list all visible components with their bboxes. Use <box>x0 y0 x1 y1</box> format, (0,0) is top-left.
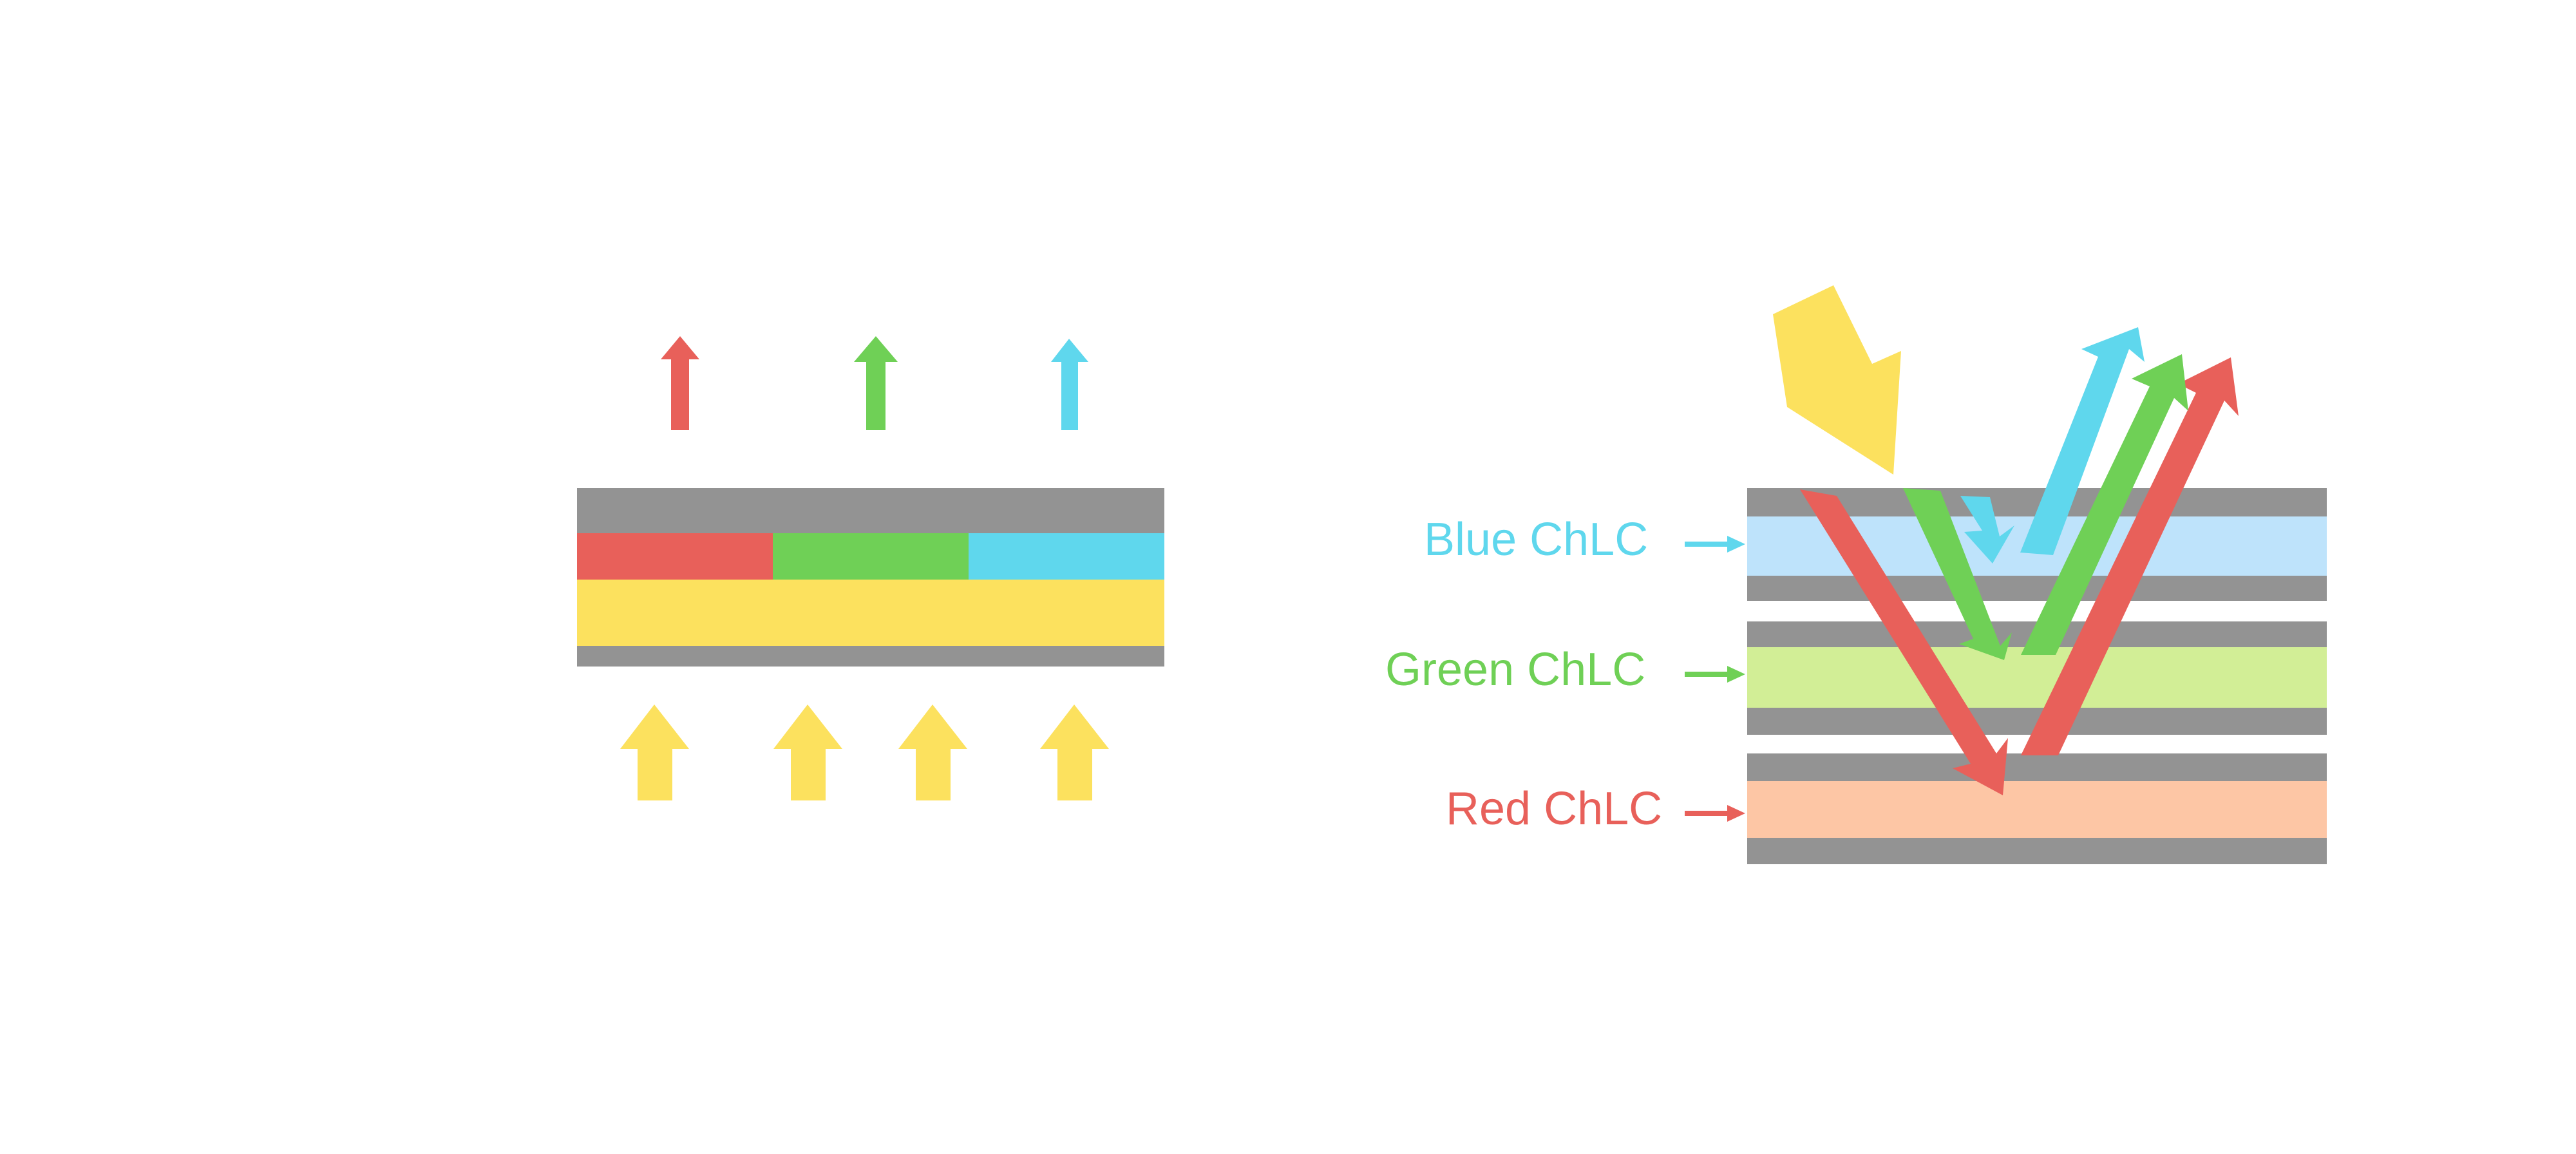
substrate-red-top <box>1747 753 2327 781</box>
arrow-ambient-incident <box>1773 285 1901 475</box>
green-chlc-pointer-arrow-icon <box>1685 666 1745 683</box>
substrate-red-bottom <box>1747 838 2327 864</box>
substrate-blue-bottom <box>1747 576 2327 601</box>
red-chlc-label-text: Red ChLC <box>1446 783 1662 835</box>
right-panel-group: Blue ChLC Green ChLC Red ChLC <box>0 0 2576 1154</box>
blue-chlc-label-text: Blue ChLC <box>1424 514 1648 565</box>
chlc-layer-red <box>1747 781 2327 838</box>
diagram-canvas: Blue ChLC Green ChLC Red ChLC <box>0 0 2576 1154</box>
chlc-layer-green <box>1747 647 2327 708</box>
red-chlc-pointer-arrow-icon <box>1685 805 1745 822</box>
right-labels: Blue ChLC Green ChLC Red ChLC <box>1385 514 1745 835</box>
green-chlc-label-text: Green ChLC <box>1385 644 1645 695</box>
blue-chlc-pointer-arrow-icon <box>1685 536 1745 553</box>
